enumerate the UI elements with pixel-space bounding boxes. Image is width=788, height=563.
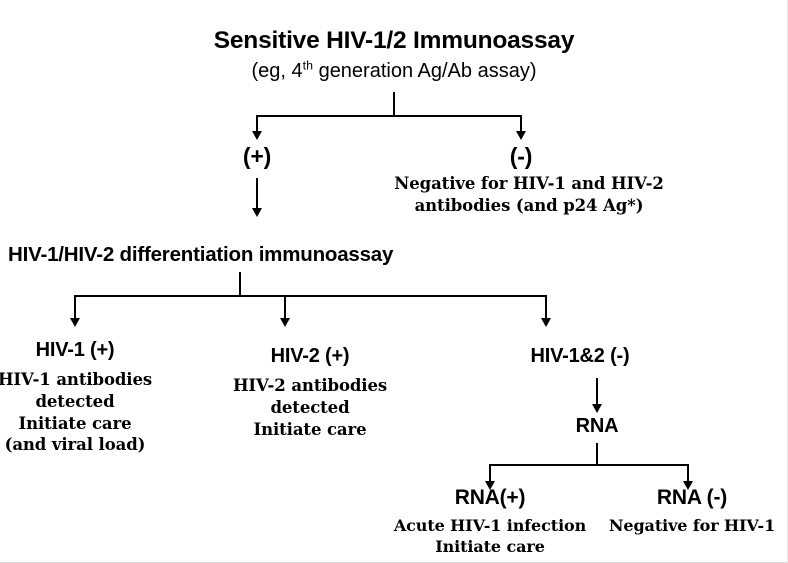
hiv1-detail-line-1: HIV-1 antibodies	[0, 369, 152, 391]
hiv2-detail-line-2: detected	[233, 397, 387, 419]
connector-differentiation-stem	[239, 272, 241, 296]
node-hiv1-positive-detail: HIV-1 antibodies detected Initiate care …	[0, 369, 152, 456]
node-rna-negative: RNA (-)	[657, 486, 727, 510]
hiv1-detail-line-4: (and viral load)	[0, 434, 152, 456]
connector-level4-bar	[490, 464, 689, 466]
node-immunoassay-positive: (+)	[243, 143, 271, 170]
subtitle-ordinal-suffix: th	[303, 58, 313, 72]
connector-level3-middle-arm	[284, 295, 286, 320]
rna-positive-detail-line-1: Acute HIV-1 infection	[394, 515, 586, 536]
hiv1-detail-line-3: Initiate care	[0, 413, 152, 435]
arrowhead-to-rna	[592, 404, 602, 413]
node-hiv1-positive: HIV-1 (+)	[36, 339, 115, 362]
node-hiv1-and-2-negative: HIV-1&2 (-)	[531, 345, 630, 368]
node-rna-positive-detail: Acute HIV-1 infection Initiate care	[394, 515, 586, 557]
negative-detail-line-2: antibodies (and p24 Ag*)	[394, 195, 663, 217]
node-rna-negative-detail: Negative for HIV-1	[609, 515, 775, 536]
flowchart-title: Sensitive HIV-1/2 Immunoassay	[214, 27, 575, 55]
arrowhead-to-hiv1-positive	[70, 318, 80, 327]
hiv2-detail-line-3: Initiate care	[233, 419, 387, 441]
node-immunoassay-negative: (-)	[510, 143, 532, 170]
hiv1-detail-line-2: detected	[0, 391, 152, 413]
arrowhead-to-positive	[252, 131, 262, 140]
subtitle-postfix: generation Ag/Ab assay)	[313, 60, 536, 82]
negative-detail-line-1: Negative for HIV-1 and HIV-2	[394, 173, 663, 195]
node-hiv2-positive: HIV-2 (+)	[271, 345, 350, 368]
flowchart-subtitle: (eg, 4th generation Ag/Ab assay)	[252, 60, 537, 83]
connector-rna-stem	[596, 443, 598, 466]
node-negative-detail: Negative for HIV-1 and HIV-2 antibodies …	[394, 173, 663, 217]
connector-level3-left-arm	[74, 295, 76, 320]
arrowhead-to-negative	[516, 131, 526, 140]
node-differentiation-immunoassay: HIV-1/HIV-2 differentiation immunoassay	[8, 243, 393, 267]
node-rna-positive: RNA(+)	[455, 486, 526, 510]
rna-positive-detail-line-2: Initiate care	[394, 536, 586, 557]
arrowhead-to-both-negative	[541, 318, 551, 327]
connector-title-stem	[393, 92, 395, 116]
node-rna-test: RNA	[576, 415, 619, 438]
rna-negative-detail-line-1: Negative for HIV-1	[609, 515, 775, 536]
arrowhead-to-hiv2-positive	[280, 318, 290, 327]
connector-level1-bar	[257, 115, 522, 117]
hiv2-detail-line-1: HIV-2 antibodies	[233, 375, 387, 397]
connector-level3-bar	[75, 295, 546, 297]
flowchart-canvas: Sensitive HIV-1/2 Immunoassay (eg, 4th g…	[0, 0, 788, 563]
arrowhead-to-differentiation	[252, 208, 262, 217]
subtitle-prefix: (eg, 4	[252, 60, 303, 82]
connector-positive-to-differentiation	[256, 178, 258, 210]
connector-level3-right-arm	[545, 295, 547, 320]
node-hiv2-positive-detail: HIV-2 antibodies detected Initiate care	[233, 375, 387, 440]
